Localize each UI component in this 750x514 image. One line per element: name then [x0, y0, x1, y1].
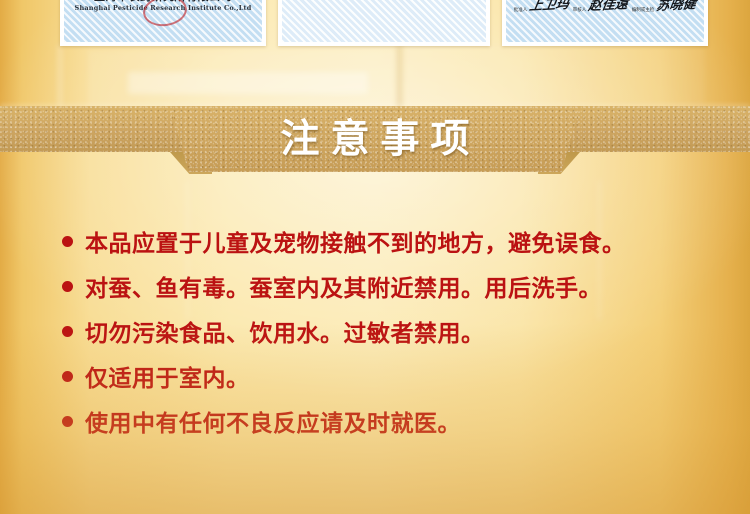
signature-mark: 苏晓健: [656, 0, 698, 14]
list-item: 仅适用于室内。: [62, 359, 702, 404]
certificate-paper: 批准人 上卫玛 审核人 赵佳遠 编制或主检 苏晓健: [506, 0, 704, 42]
certificate-middle: [278, 0, 490, 46]
signature-block: 批准人 上卫玛: [514, 0, 570, 13]
red-stamp-icon: [141, 0, 189, 29]
list-item: 对蚕、鱼有毒。蚕室内及其附近禁用。用后洗手。: [62, 269, 702, 314]
bullet-icon: [62, 416, 73, 427]
signature-label: 编制或主检: [632, 7, 655, 13]
background-panel-seam: [397, 45, 402, 109]
precaution-text: 使用中有任何不良反应请及时就医。: [85, 404, 461, 438]
precaution-text: 本品应置于儿童及宠物接触不到的地方，避免误食。: [85, 224, 626, 258]
list-item: 使用中有任何不良反应请及时就医。: [62, 404, 702, 449]
precaution-text: 切勿污染食品、饮用水。过敏者禁用。: [85, 314, 485, 348]
list-item: 切勿污染食品、饮用水。过敏者禁用。: [62, 314, 702, 359]
signature-block: 审核人 赵佳遠: [573, 0, 629, 13]
certificate-paper: [282, 0, 486, 42]
signature-mark: 赵佳遠: [588, 0, 630, 14]
section-title: 注意事项: [170, 106, 580, 172]
section-ribbon-banner: 注意事项: [0, 106, 750, 186]
list-item: 本品应置于儿童及宠物接触不到的地方，避免误食。: [62, 224, 702, 269]
signature-label: 批准人: [514, 7, 528, 13]
certificate-left: 上海市农药研究所有限公司 Shanghai Pesticide Research…: [60, 0, 266, 46]
background-panel-slot: [128, 72, 368, 94]
signature-label: 审核人: [573, 7, 587, 13]
bullet-icon: [62, 326, 73, 337]
certificate-paper: 上海市农药研究所有限公司 Shanghai Pesticide Research…: [64, 0, 262, 42]
bullet-icon: [62, 281, 73, 292]
background-panel-block: [88, 50, 398, 108]
background-panel-right: [405, 45, 705, 105]
precaution-text: 仅适用于室内。: [85, 359, 250, 393]
precautions-page: 上海市农药研究所有限公司 Shanghai Pesticide Research…: [0, 0, 750, 514]
certificate-right: 批准人 上卫玛 审核人 赵佳遠 编制或主检 苏晓健: [502, 0, 708, 46]
ribbon-center-plate: 注意事项: [170, 106, 580, 172]
certificates-strip: 上海市农药研究所有限公司 Shanghai Pesticide Research…: [0, 0, 750, 46]
signature-block: 编制或主检 苏晓健: [632, 0, 697, 13]
precautions-list: 本品应置于儿童及宠物接触不到的地方，避免误食。 对蚕、鱼有毒。蚕室内及其附近禁用…: [62, 224, 702, 449]
precaution-text: 对蚕、鱼有毒。蚕室内及其附近禁用。用后洗手。: [85, 269, 602, 303]
background-panel-edge: [58, 45, 62, 107]
bullet-icon: [62, 236, 73, 247]
signature-mark: 上卫玛: [529, 0, 571, 14]
bullet-icon: [62, 371, 73, 382]
certificate-signature-row: 批准人 上卫玛 审核人 赵佳遠 编制或主检 苏晓健: [512, 0, 698, 13]
